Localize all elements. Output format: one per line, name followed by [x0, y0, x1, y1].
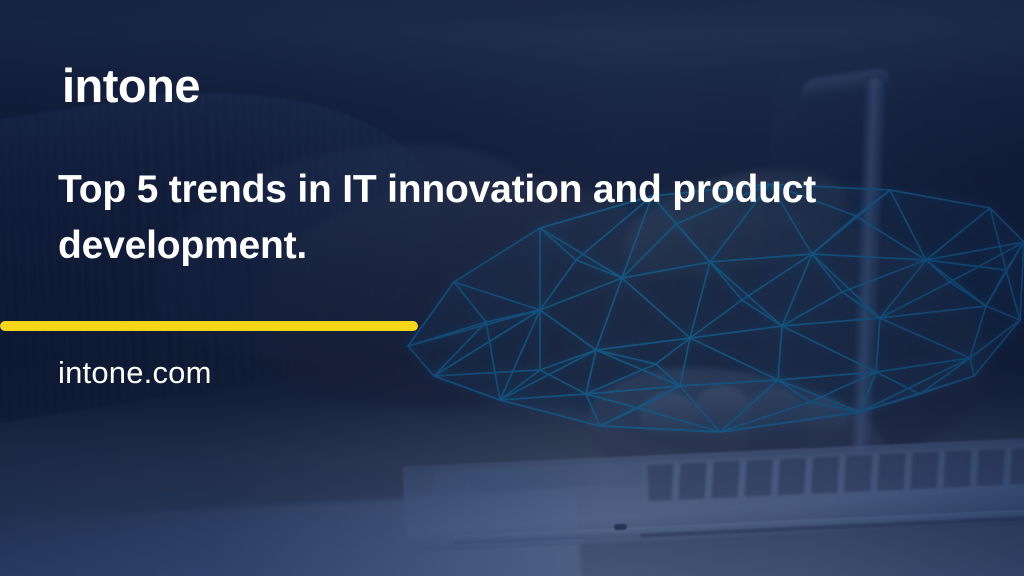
promo-banner: intone Top 5 trends in IT innovation and…: [0, 0, 1024, 576]
website-url: intone.com: [58, 355, 212, 391]
page-title: Top 5 trends in IT innovation and produc…: [58, 162, 888, 273]
banner-content: intone Top 5 trends in IT innovation and…: [0, 0, 1024, 576]
yellow-accent-rule: [0, 321, 418, 331]
brand-logo: intone: [62, 62, 200, 109]
